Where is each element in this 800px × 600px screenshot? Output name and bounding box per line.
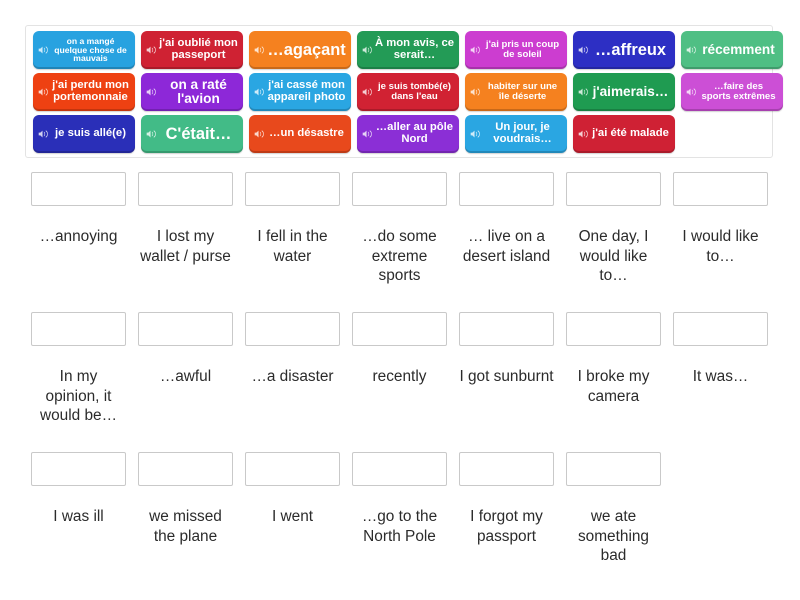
answer-cell: I went xyxy=(239,452,346,566)
draggable-tile[interactable]: …affreux xyxy=(573,31,675,69)
answer-dropzone[interactable] xyxy=(245,312,340,346)
answer-dropzone[interactable] xyxy=(459,172,554,206)
speaker-icon[interactable] xyxy=(686,87,697,98)
answer-dropzone[interactable] xyxy=(138,312,233,346)
draggable-tile[interactable]: j'ai pris un coup de soleil xyxy=(465,31,567,69)
tile-label: …faire des sports extrêmes xyxy=(698,82,779,102)
tile-label: j'ai été malade xyxy=(590,128,671,140)
activity-page: on a mangé quelque chose de mauvaisj'ai … xyxy=(0,0,800,600)
speaker-icon[interactable] xyxy=(578,45,589,56)
speaker-icon[interactable] xyxy=(254,87,265,98)
answer-row-3: I was illwe missed the planeI went…go to… xyxy=(25,452,773,566)
answer-row-2: In my opinion, it would be……awful…a disa… xyxy=(25,312,773,426)
speaker-icon[interactable] xyxy=(578,129,589,140)
answer-label: …do some extreme sports xyxy=(352,227,447,286)
tile-label: j'ai pris un coup de soleil xyxy=(482,40,563,60)
answer-cell: recently xyxy=(346,312,453,426)
tile-label: …affreux xyxy=(590,42,671,59)
draggable-tile[interactable]: C'était… xyxy=(141,115,243,153)
draggable-tile-tray: on a mangé quelque chose de mauvaisj'ai … xyxy=(25,25,773,158)
draggable-tile[interactable]: on a raté l'avion xyxy=(141,73,243,111)
tile-label: on a raté l'avion xyxy=(158,78,239,106)
answer-cell: …do some extreme sports xyxy=(346,172,453,286)
draggable-tile[interactable]: récemment xyxy=(681,31,783,69)
answer-cell: One day, I would like to… xyxy=(560,172,667,286)
answer-label: …go to the North Pole xyxy=(352,507,447,546)
answer-label: I went xyxy=(245,507,340,527)
draggable-tile[interactable]: habiter sur une île déserte xyxy=(465,73,567,111)
answer-dropzone[interactable] xyxy=(459,452,554,486)
tile-label: j'ai oublié mon passeport xyxy=(158,38,239,61)
answer-cell: I forgot my passport xyxy=(453,452,560,566)
answer-dropzone[interactable] xyxy=(245,172,340,206)
draggable-tile[interactable]: …faire des sports extrêmes xyxy=(681,73,783,111)
answer-label: we missed the plane xyxy=(138,507,233,546)
answer-label: we ate something bad xyxy=(566,507,661,566)
answer-cell: I would like to… xyxy=(667,172,774,286)
speaker-icon[interactable] xyxy=(470,45,481,56)
answer-label: …awful xyxy=(138,367,233,387)
speaker-icon[interactable] xyxy=(146,45,157,56)
answer-label: … live on a desert island xyxy=(459,227,554,266)
answer-cell: … live on a desert island xyxy=(453,172,560,286)
tile-slot-empty xyxy=(681,115,783,153)
draggable-tile[interactable]: …un désastre xyxy=(249,115,351,153)
answer-label: recently xyxy=(352,367,447,387)
tile-label: on a mangé quelque chose de mauvais xyxy=(50,37,131,63)
speaker-icon[interactable] xyxy=(38,45,49,56)
answer-cell: …awful xyxy=(132,312,239,426)
answer-cell: we missed the plane xyxy=(132,452,239,566)
speaker-icon[interactable] xyxy=(578,87,589,98)
draggable-tile[interactable]: À mon avis, ce serait… xyxy=(357,31,459,69)
tile-label: habiter sur une île déserte xyxy=(482,82,563,102)
speaker-icon[interactable] xyxy=(254,45,265,56)
answer-dropzone[interactable] xyxy=(673,312,768,346)
answer-label: I forgot my passport xyxy=(459,507,554,546)
speaker-icon[interactable] xyxy=(362,45,373,56)
speaker-icon[interactable] xyxy=(254,129,265,140)
speaker-icon[interactable] xyxy=(362,87,373,98)
answer-dropzone[interactable] xyxy=(31,452,126,486)
draggable-tile[interactable]: j'ai cassé mon appareil photo xyxy=(249,73,351,111)
draggable-tile[interactable]: j'aimerais… xyxy=(573,73,675,111)
answer-cell: …a disaster xyxy=(239,312,346,426)
draggable-tile[interactable]: …aller au pôle Nord xyxy=(357,115,459,153)
answer-cell: I broke my camera xyxy=(560,312,667,426)
answer-dropzone[interactable] xyxy=(31,312,126,346)
draggable-tile[interactable]: j'ai été malade xyxy=(573,115,675,153)
answer-label: I was ill xyxy=(31,507,126,527)
tile-label: j'ai cassé mon appareil photo xyxy=(266,80,347,103)
tile-label: À mon avis, ce serait… xyxy=(374,38,455,61)
answer-row-1: …annoyingI lost my wallet / purseI fell … xyxy=(25,172,773,286)
answer-dropzone[interactable] xyxy=(566,172,661,206)
answer-cell: It was… xyxy=(667,312,774,426)
answer-cell: I got sunburnt xyxy=(453,312,560,426)
answer-label: I lost my wallet / purse xyxy=(138,227,233,266)
answer-dropzone[interactable] xyxy=(138,172,233,206)
answer-label: It was… xyxy=(673,367,768,387)
draggable-tile[interactable]: je suis allé(e) xyxy=(33,115,135,153)
tile-label: Un jour, je voudrais… xyxy=(482,122,563,145)
speaker-icon[interactable] xyxy=(146,87,157,98)
answer-cell: I lost my wallet / purse xyxy=(132,172,239,286)
answer-cell: I fell in the water xyxy=(239,172,346,286)
answer-dropzone[interactable] xyxy=(352,172,447,206)
answer-label: In my opinion, it would be… xyxy=(31,367,126,426)
answer-cell: I was ill xyxy=(25,452,132,566)
answer-dropzone[interactable] xyxy=(245,452,340,486)
draggable-tile[interactable]: j'ai perdu mon portemonnaie xyxy=(33,73,135,111)
answer-label: I would like to… xyxy=(673,227,768,266)
answer-dropzone[interactable] xyxy=(459,312,554,346)
answer-dropzone[interactable] xyxy=(673,172,768,206)
speaker-icon[interactable] xyxy=(38,129,49,140)
tile-tray-row: on a mangé quelque chose de mauvaisj'ai … xyxy=(30,31,768,71)
draggable-tile[interactable]: je suis tombé(e) dans l'eau xyxy=(357,73,459,111)
draggable-tile[interactable]: j'ai oublié mon passeport xyxy=(141,31,243,69)
tile-label: je suis tombé(e) dans l'eau xyxy=(374,82,455,102)
answer-cell: we ate something bad xyxy=(560,452,667,566)
answer-label: I broke my camera xyxy=(566,367,661,406)
draggable-tile[interactable]: …agaçant xyxy=(249,31,351,69)
answer-dropzone[interactable] xyxy=(566,312,661,346)
tile-tray-row: je suis allé(e)C'était……un désastre…alle… xyxy=(30,115,768,155)
answer-dropzone[interactable] xyxy=(352,312,447,346)
answer-cell: In my opinion, it would be… xyxy=(25,312,132,426)
speaker-icon[interactable] xyxy=(470,87,481,98)
answer-label: …a disaster xyxy=(245,367,340,387)
tile-label: j'ai perdu mon portemonnaie xyxy=(50,80,131,103)
answer-dropzone[interactable] xyxy=(31,172,126,206)
answer-cell-empty xyxy=(667,452,774,566)
answer-cell: …annoying xyxy=(25,172,132,286)
speaker-icon[interactable] xyxy=(686,45,697,56)
draggable-tile[interactable]: Un jour, je voudrais… xyxy=(465,115,567,153)
speaker-icon[interactable] xyxy=(470,129,481,140)
tile-label: je suis allé(e) xyxy=(50,128,131,140)
speaker-icon[interactable] xyxy=(38,87,49,98)
tile-label: …agaçant xyxy=(266,42,347,59)
tile-tray-row: j'ai perdu mon portemonnaieon a raté l'a… xyxy=(30,73,768,113)
answer-label: One day, I would like to… xyxy=(566,227,661,286)
tile-label: C'était… xyxy=(158,126,239,143)
answer-cell: …go to the North Pole xyxy=(346,452,453,566)
speaker-icon[interactable] xyxy=(146,129,157,140)
answer-dropzone[interactable] xyxy=(352,452,447,486)
speaker-icon[interactable] xyxy=(362,129,373,140)
tile-label: récemment xyxy=(698,43,779,57)
answer-label: I fell in the water xyxy=(245,227,340,266)
tile-label: …aller au pôle Nord xyxy=(374,122,455,145)
answer-dropzone[interactable] xyxy=(138,452,233,486)
draggable-tile[interactable]: on a mangé quelque chose de mauvais xyxy=(33,31,135,69)
answer-dropzone[interactable] xyxy=(566,452,661,486)
tile-label: j'aimerais… xyxy=(590,85,671,99)
tile-label: …un désastre xyxy=(266,128,347,140)
answer-label: …annoying xyxy=(31,227,126,247)
answer-label: I got sunburnt xyxy=(459,367,554,387)
